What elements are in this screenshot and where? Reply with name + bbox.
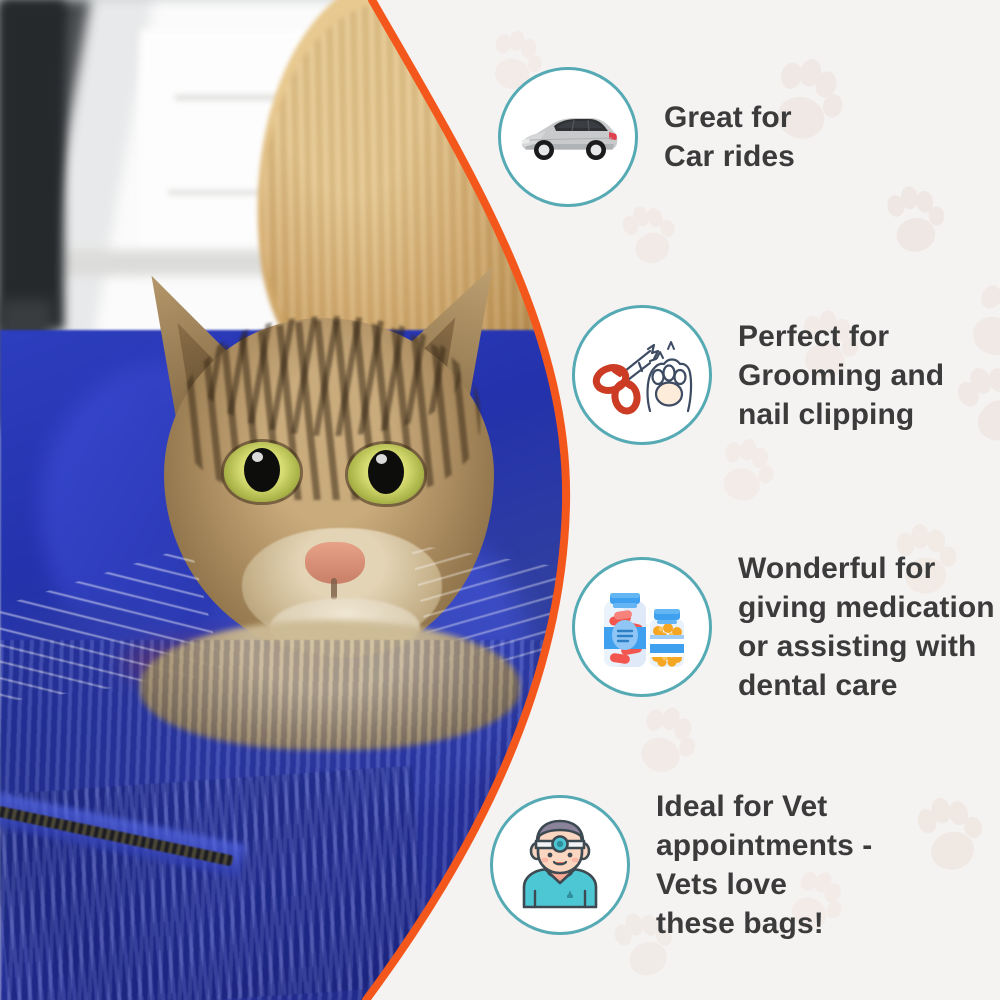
paw-print-icon — [614, 694, 712, 792]
feature-label-car-rides: Great for Car rides — [664, 98, 795, 176]
nail-clippers-paw-icon — [590, 327, 694, 423]
medicine-bottles-icon — [590, 579, 694, 675]
car-icon — [516, 106, 620, 168]
feature-row-medication: Wonderful for giving medication or assis… — [572, 549, 995, 705]
cat-eye-glint — [252, 452, 263, 462]
feature-icon-circle — [572, 305, 712, 445]
cat-stripes — [200, 316, 460, 436]
feature-row-car-rides: Great for Car rides — [498, 67, 795, 207]
feature-label-vet: Ideal for Vet appointments - Vets love t… — [656, 787, 872, 943]
feature-icon-circle — [498, 67, 638, 207]
paw-print-icon — [605, 195, 692, 282]
feature-label-medication: Wonderful for giving medication or assis… — [738, 549, 995, 705]
paw-print-icon — [869, 179, 956, 266]
feature-label-grooming: Perfect for Grooming and nail clipping — [738, 317, 944, 434]
clinic-paper-line — [175, 95, 285, 100]
veterinarian-icon — [510, 815, 610, 915]
cat-eye-glint — [376, 454, 387, 464]
feature-icon-circle — [490, 795, 630, 935]
infographic-canvas: Great for Car rides — [0, 0, 1000, 1000]
feature-row-vet: Ideal for Vet appointments - Vets love t… — [490, 787, 872, 943]
clinic-dark-edge — [0, 0, 64, 330]
bag-ribbed-knit — [0, 766, 427, 1000]
paw-print-icon — [896, 786, 1000, 890]
feature-row-grooming: Perfect for Grooming and nail clipping — [572, 305, 944, 445]
cat-philtrum — [331, 578, 337, 600]
feature-icon-circle — [572, 557, 712, 697]
